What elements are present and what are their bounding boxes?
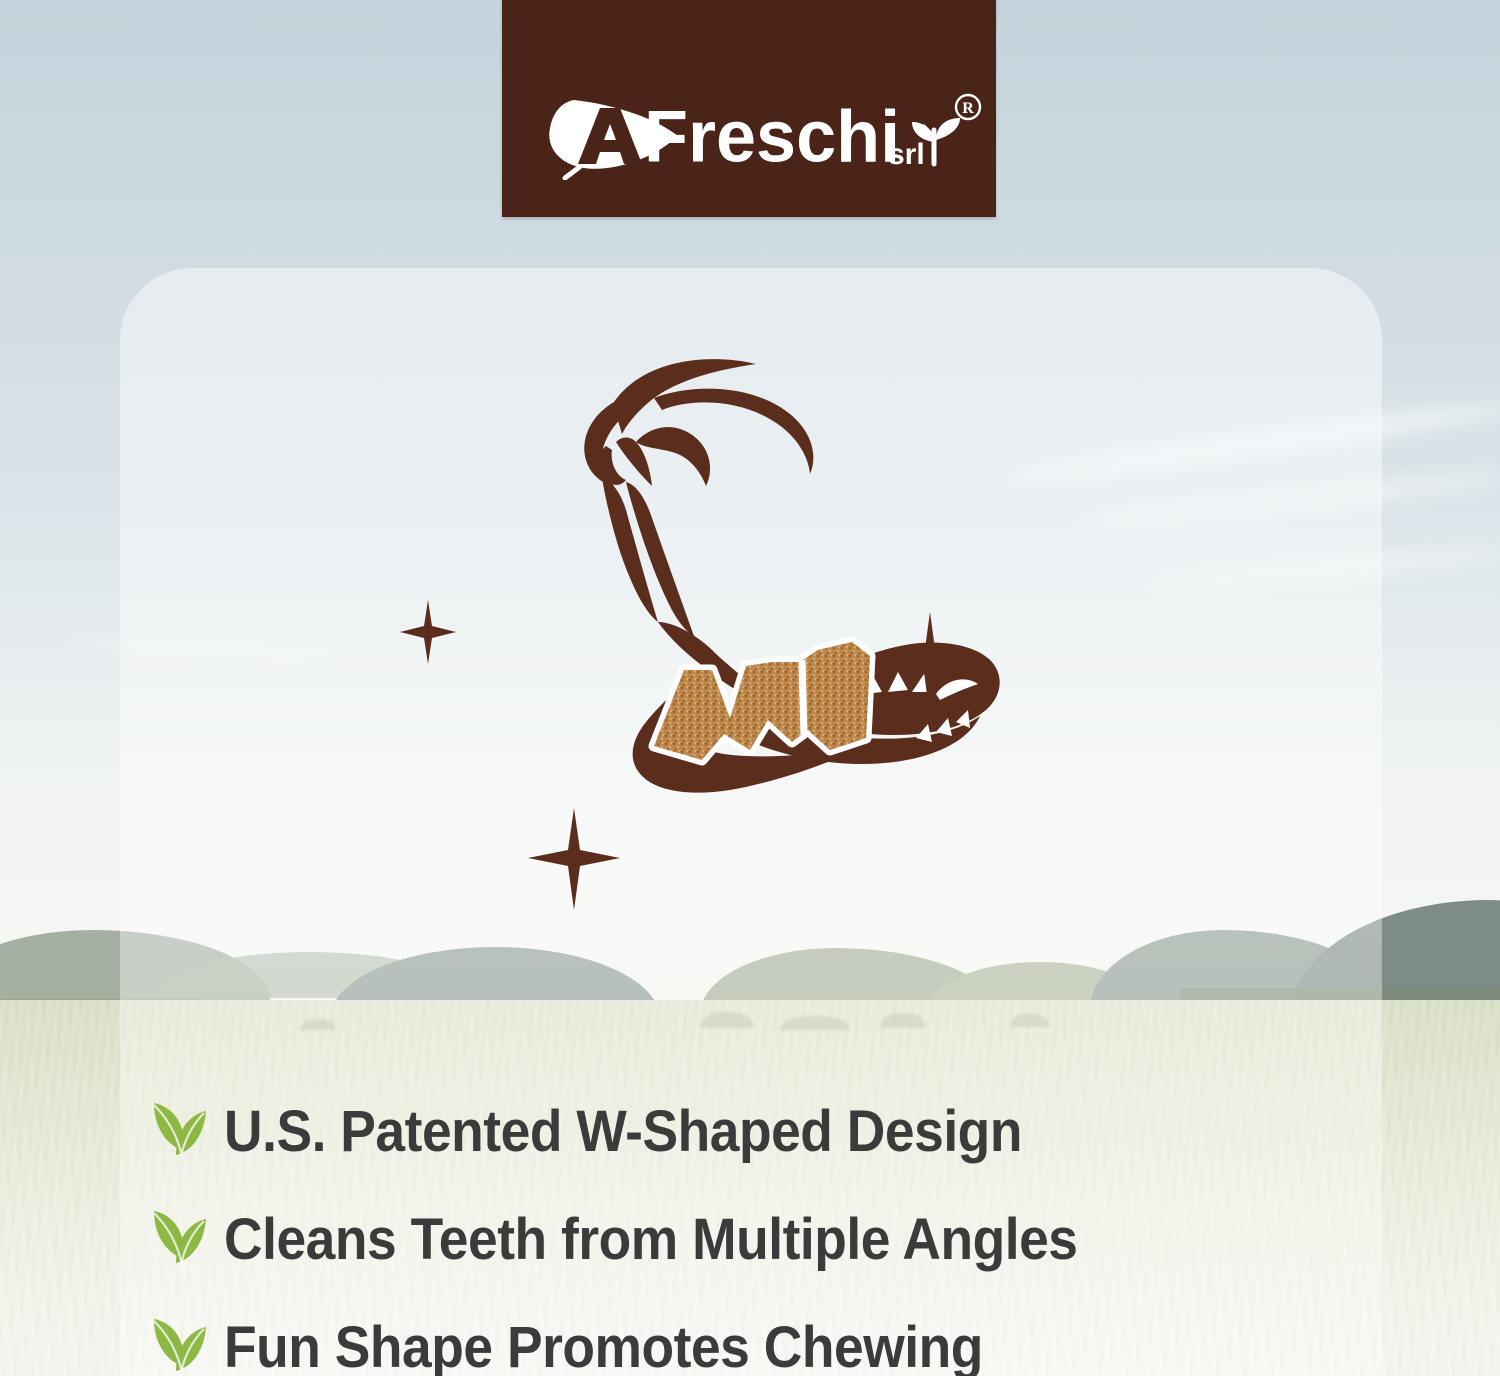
feature-label: U.S. Patented W-Shaped Design [224,1103,1022,1161]
hero-illustration [400,350,1040,970]
svg-text:R: R [962,100,974,117]
list-item: U.S. Patented W-Shaped Design [146,1078,1446,1186]
brand-suffix: srl [888,138,925,171]
green-leaves-icon [146,1205,224,1275]
green-leaves-icon [146,1313,224,1376]
sparkle-icon [400,600,456,664]
list-item: Fun Shape Promotes Chewing [146,1294,1446,1376]
brand-wordmark: Freschi [644,96,900,178]
brand-logo: Freschi srl R [502,90,996,180]
green-leaves-icon [146,1097,224,1167]
feature-label: Cleans Teeth from Multiple Angles [224,1211,1078,1269]
list-item: Cleans Teeth from Multiple Angles [146,1186,1446,1294]
feature-list: U.S. Patented W-Shaped Design Cleans Tee… [146,1078,1446,1376]
brand-banner: Freschi srl R [502,0,996,217]
product-feature-image: Freschi srl R [0,0,1500,1376]
feature-label: Fun Shape Promotes Chewing [224,1319,983,1376]
registered-trademark-icon: R [956,95,980,119]
sparkle-icon [528,808,620,910]
